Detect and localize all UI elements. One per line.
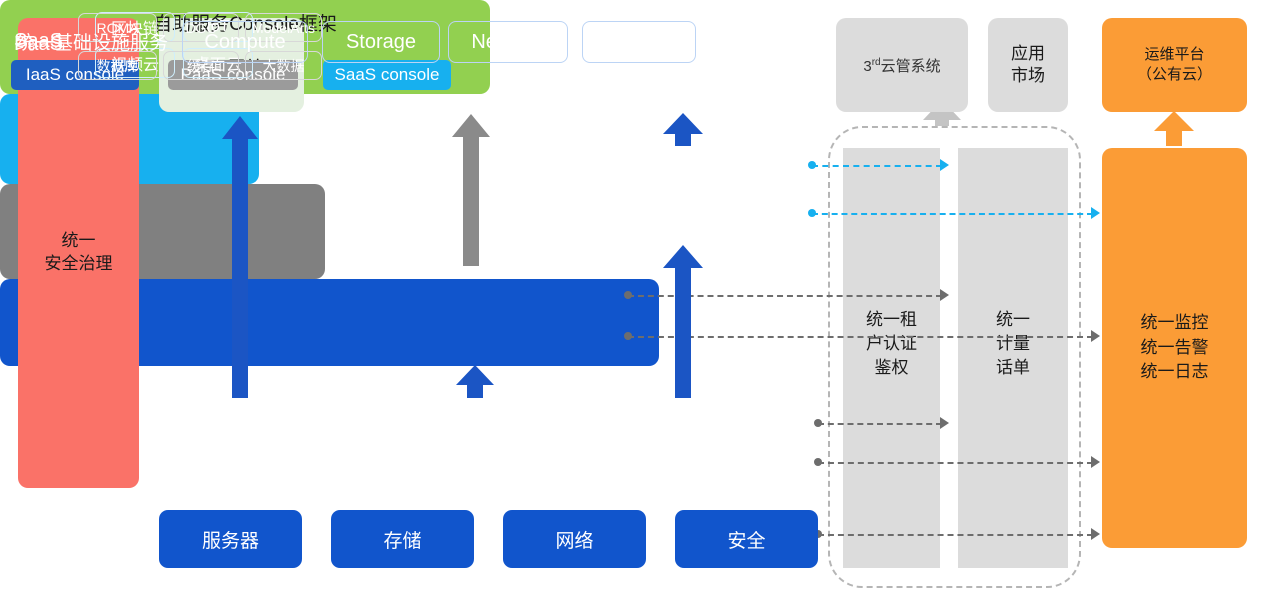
- hardware-box-security[interactable]: 安全: [675, 510, 818, 568]
- infra-to-ops-line: [818, 462, 1093, 464]
- third-cloud-prefix: 3: [863, 58, 871, 75]
- saas-to-ops-line: [812, 213, 1093, 215]
- infra-to-auth-arrowhead: [940, 417, 949, 429]
- arrow-infra-to-saas: [663, 245, 703, 398]
- arrow-paas-to-console: [452, 114, 490, 266]
- hardware-box-storage[interactable]: 存储: [331, 510, 474, 568]
- third-party-cloud-management-box[interactable]: 3rd云管系统: [836, 18, 968, 112]
- architecture-diagram: 统一租 户认证 鉴权 统一 计量 话单: [0, 0, 1265, 605]
- infra-chip-compute[interactable]: Compute: [182, 21, 308, 63]
- infra-to-ops-arrowhead: [1091, 456, 1100, 468]
- hardware-to-ops-arrowhead: [1091, 528, 1100, 540]
- auth-line-1: 统一租: [843, 308, 940, 332]
- paas-to-auth-line: [628, 295, 942, 297]
- paas-to-ops-arrowhead: [1091, 330, 1100, 342]
- ops-platform-line-2: （公有云）: [1137, 65, 1212, 85]
- security-label-line-1: 统一: [45, 230, 113, 253]
- infra-chip-network[interactable]: Network: [448, 21, 568, 63]
- ops-col-line-2: 统一告警: [1141, 336, 1209, 361]
- billing-line-1: 统一: [958, 308, 1068, 332]
- infra-chip-cce[interactable]: CCE: [582, 21, 696, 63]
- hardware-box-server[interactable]: 服务器: [159, 510, 302, 568]
- infra-to-auth-line: [818, 423, 942, 425]
- hardware-to-ops-line: [818, 534, 1093, 536]
- infra-chip-storage[interactable]: Storage: [322, 21, 440, 63]
- paas-to-auth-arrowhead: [940, 289, 949, 301]
- third-cloud-rest: 云管系统: [881, 58, 941, 75]
- infra-services-label: 统一基础设施服务: [16, 28, 168, 55]
- saas-to-ops-arrowhead: [1091, 207, 1100, 219]
- hardware-box-network[interactable]: 网络: [503, 510, 646, 568]
- paas-to-ops-line: [628, 336, 1093, 338]
- unified-metering-billing-column: 统一 计量 话单: [958, 148, 1068, 568]
- app-market-line-1: 应用: [1011, 43, 1045, 65]
- saas-to-auth-arrowhead: [940, 159, 949, 171]
- billing-line-3: 话单: [958, 356, 1068, 380]
- arrow-saas-to-console: [663, 113, 703, 146]
- third-cloud-superscript: rd: [872, 57, 881, 68]
- auth-line-3: 鉴权: [843, 356, 940, 380]
- paas-chip-database[interactable]: 数据库: [78, 51, 157, 80]
- ops-col-line-3: 统一日志: [1141, 360, 1209, 385]
- ops-platform-public-cloud-box[interactable]: 运维平台 （公有云）: [1102, 18, 1247, 112]
- ops-col-line-1: 统一监控: [1141, 311, 1209, 336]
- security-label-line-2: 安全治理: [45, 253, 113, 276]
- third-cloud-label: 3rd云管系统: [863, 55, 940, 76]
- saas-console-chip[interactable]: SaaS console: [323, 60, 451, 90]
- arrow-ops-col-to-ops-platform: [1154, 111, 1194, 146]
- app-market-box[interactable]: 应用 市场: [988, 18, 1068, 112]
- unified-tenant-auth-column: 统一租 户认证 鉴权: [843, 148, 940, 568]
- ops-platform-line-1: 运维平台: [1137, 45, 1212, 65]
- saas-to-auth-line: [812, 165, 942, 167]
- app-market-line-2: 市场: [1011, 65, 1045, 87]
- arrow-infra-to-paas: [456, 365, 494, 398]
- unified-monitoring-alarm-log-column[interactable]: 统一监控 统一告警 统一日志: [1102, 148, 1247, 548]
